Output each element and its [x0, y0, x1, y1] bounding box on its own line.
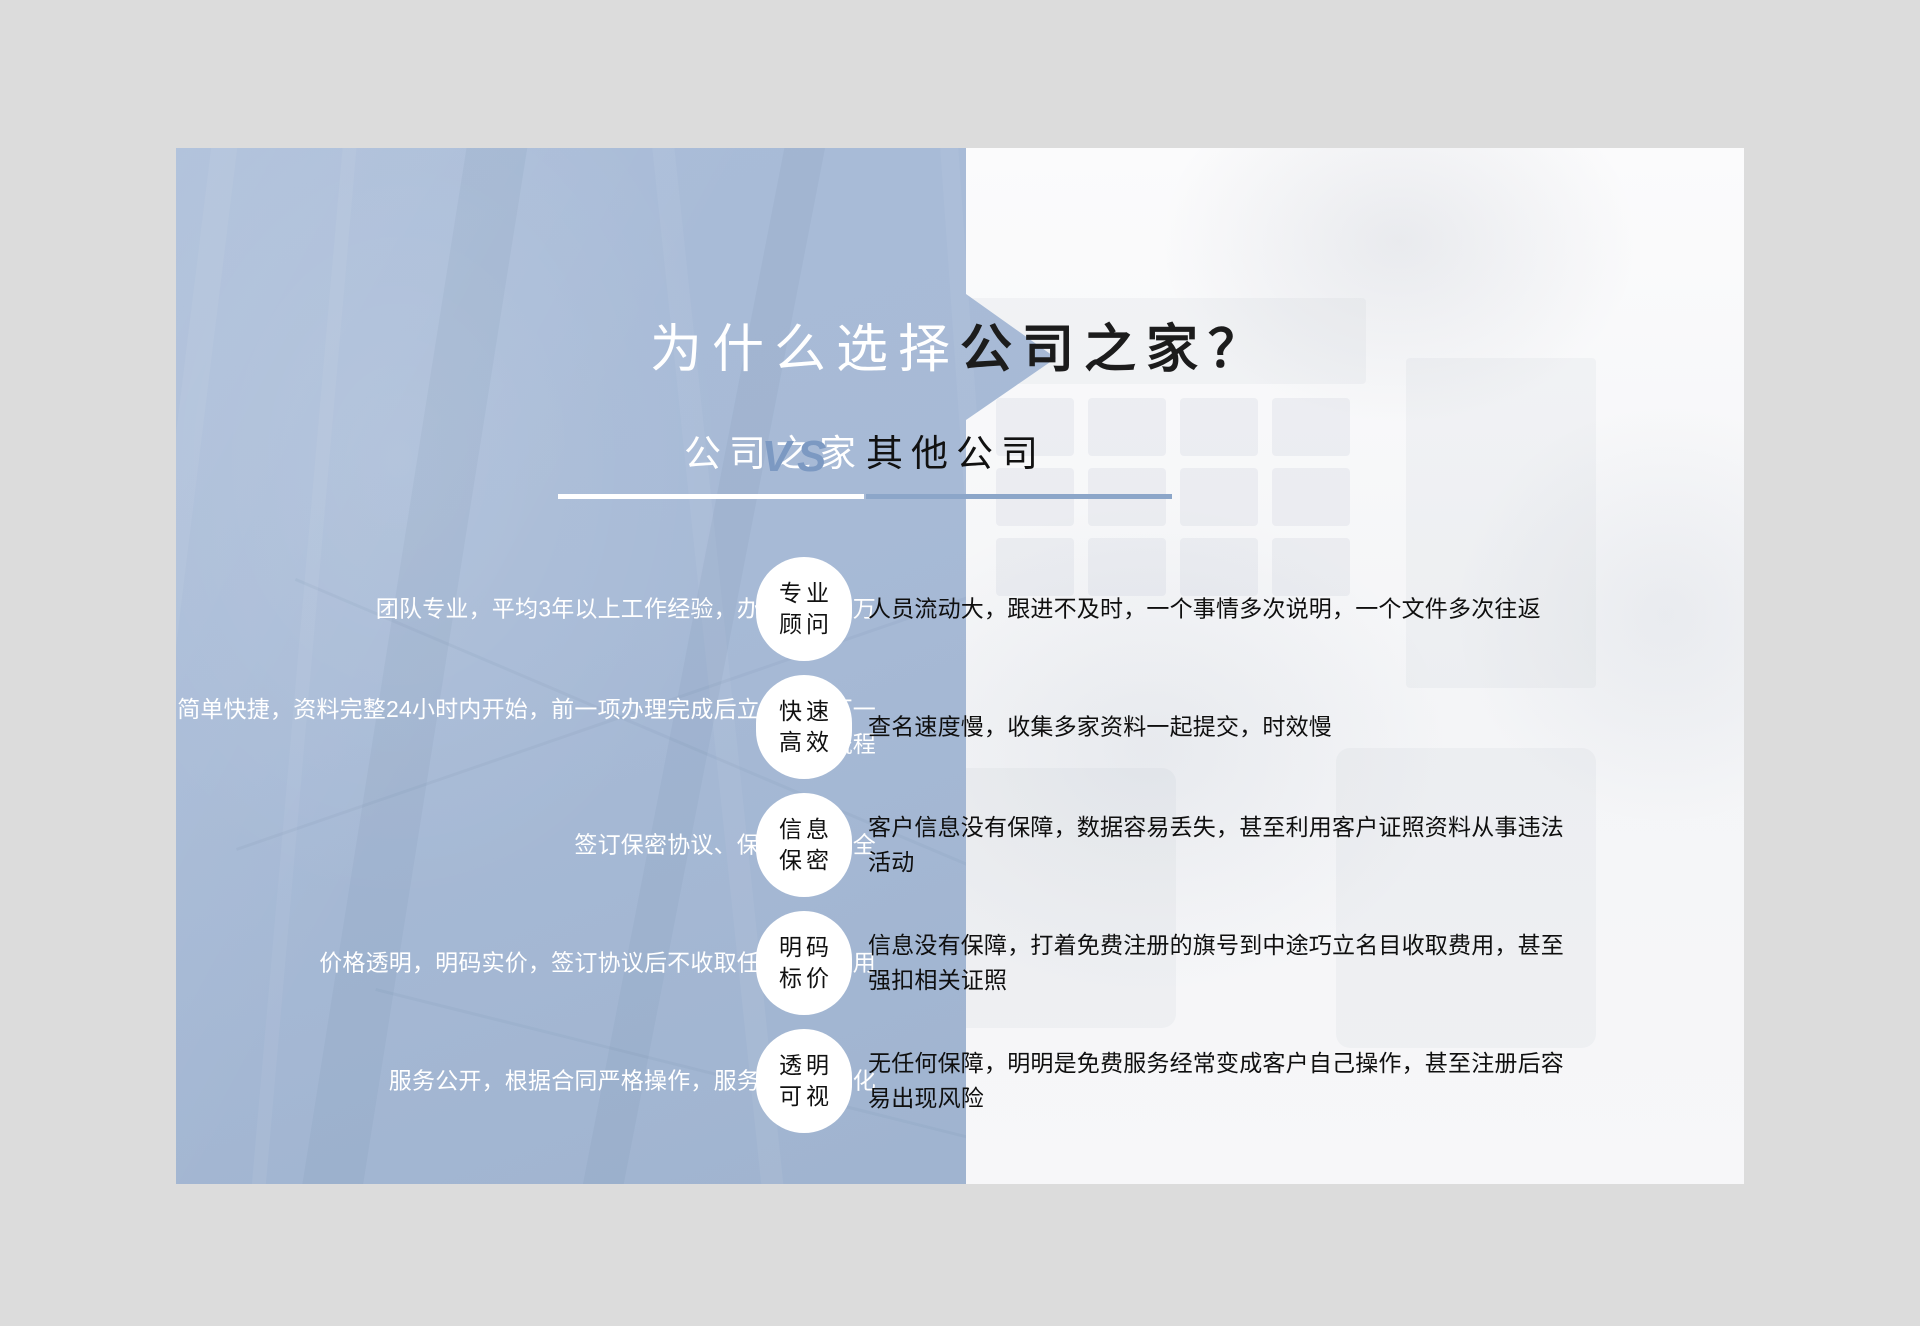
row-category-line1: 专业 [775, 578, 833, 609]
row-category-badge: 透明 可视 [756, 1029, 852, 1133]
row-category-badge: 快速 高效 [756, 675, 852, 779]
row-category-badge: 专业 顾问 [756, 557, 852, 661]
row-category-line2: 可视 [775, 1081, 833, 1112]
versus-right-underline [866, 494, 1172, 499]
row-theirs-text: 客户信息没有保障，数据容易丢失，甚至利用客户证照资料从事违法活动 [868, 810, 1568, 880]
row-theirs-text: 信息没有保障，打着免费注册的旗号到中途巧立名目收取费用，甚至强扣相关证照 [868, 928, 1568, 998]
versus-mark-icon: VS [742, 432, 852, 483]
row-category-line1: 快速 [775, 696, 833, 727]
row-theirs-text: 无任何保障，明明是免费服务经常变成客户自己操作，甚至注册后容易出现风险 [868, 1046, 1568, 1116]
row-theirs-text: 人员流动大，跟进不及时，一个事情多次说明，一个文件多次往返 [868, 592, 1568, 627]
row-category-line2: 保密 [775, 845, 833, 876]
row-category-line2: 标价 [775, 963, 833, 994]
versus-right-label: 其他公司 [866, 434, 1046, 475]
table-row: 服务公开，根据合同严格操作，服务流程可视化 透明 可视 无任何保障，明明是免费服… [176, 1022, 1744, 1140]
page-title-brand: 公司之家？ [960, 321, 1270, 379]
versus-left-underline [558, 494, 864, 499]
row-category-line2: 高效 [775, 727, 833, 758]
row-theirs-text: 查名速度慢，收集多家资料一起提交，时效慢 [868, 710, 1568, 745]
table-row: 签订保密协议、保障信息安全 信息 保密 客户信息没有保障，数据容易丢失，甚至利用… [176, 786, 1744, 904]
table-row: 团队专业，平均3年以上工作经验，办理案例过万 专业 顾问 人员流动大，跟进不及时… [176, 550, 1744, 668]
row-category-line2: 顾问 [775, 609, 833, 640]
row-category-badge: 明码 标价 [756, 911, 852, 1015]
versus-header: 公司之家 VS 其他公司 [176, 428, 1744, 520]
slide-canvas: 为什么选择公司之家？ 公司之家 VS 其他公司 团队专业，平均3年以上工作经验，… [0, 0, 1920, 1326]
row-category-badge: 信息 保密 [756, 793, 852, 897]
comparison-rows: 团队专业，平均3年以上工作经验，办理案例过万 专业 顾问 人员流动大，跟进不及时… [176, 550, 1744, 1140]
table-row: 简单快捷，资料完整24小时内开始，前一项办理完成后立即启动下一流程 快速 高效 … [176, 668, 1744, 786]
row-category-line1: 透明 [775, 1050, 833, 1081]
comparison-card: 为什么选择公司之家？ 公司之家 VS 其他公司 团队专业，平均3年以上工作经验，… [176, 148, 1744, 1184]
row-category-line1: 明码 [775, 932, 833, 963]
table-row: 价格透明，明码实价，签订协议后不收取任何附加费用 明码 标价 信息没有保障，打着… [176, 904, 1744, 1022]
page-title-highlight: 为什么选择 [650, 321, 960, 379]
row-category-line1: 信息 [775, 814, 833, 845]
page-title: 为什么选择公司之家？ [176, 324, 1744, 376]
